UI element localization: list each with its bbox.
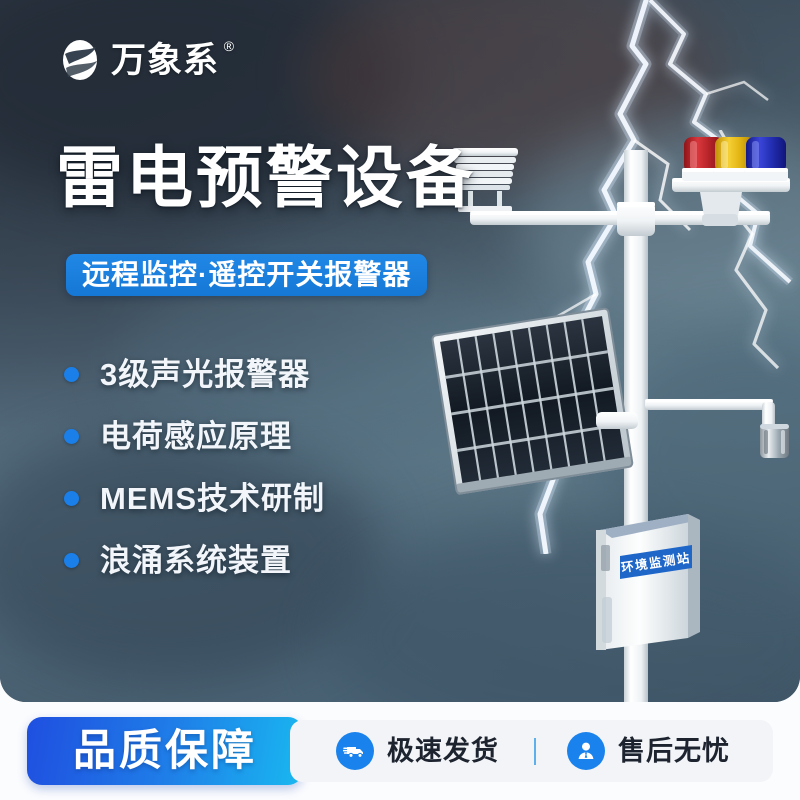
service-label: 售后无忧 bbox=[618, 738, 730, 765]
customer-service-icon bbox=[567, 732, 605, 770]
subtitle-text: 远程监控·遥控开关报警器 bbox=[82, 261, 411, 289]
list-item: 浪涌系统装置 bbox=[64, 529, 325, 591]
divider bbox=[534, 738, 536, 765]
list-item: 电荷感应原理 bbox=[64, 405, 325, 467]
camera-arm-sensor bbox=[645, 399, 789, 458]
quality-guarantee-badge[interactable]: 品质保障 bbox=[27, 717, 303, 785]
list-item: MEMS技术研制 bbox=[64, 467, 325, 529]
page-title: 雷电预警设备 bbox=[56, 143, 476, 215]
service-item-fast-shipping[interactable]: 极速发货 bbox=[336, 732, 499, 770]
subtitle-banner: 远程监控·遥控开关报警器 bbox=[66, 254, 427, 296]
panel-bracket bbox=[596, 412, 638, 429]
feature-list: 3级声光报警器 电荷感应原理 MEMS技术研制 浪涌系统装置 bbox=[64, 343, 325, 591]
blue-dot-icon bbox=[64, 367, 79, 382]
bottom-service-bar: 品质保障 极速发货 bbox=[0, 702, 800, 800]
product-poster: 万象系 ® bbox=[0, 0, 800, 800]
list-item: 3级声光报警器 bbox=[64, 343, 325, 405]
service-item-after-sales[interactable]: 售后无忧 bbox=[567, 732, 730, 770]
delivery-truck-icon bbox=[336, 732, 374, 770]
solar-panel bbox=[432, 308, 633, 495]
feature-label: MEMS技术研制 bbox=[100, 483, 325, 514]
blue-dot-icon bbox=[64, 491, 79, 506]
feature-label: 浪涌系统装置 bbox=[100, 545, 292, 576]
controller-box: 环境监测站 bbox=[596, 514, 700, 650]
hero-photo: 万象系 ® bbox=[0, 0, 800, 702]
service-pill: 极速发货 售后无忧 bbox=[290, 720, 773, 782]
service-label: 极速发货 bbox=[387, 738, 499, 765]
quality-badge-label: 品质保障 bbox=[73, 730, 257, 773]
blue-alarm-light bbox=[744, 137, 788, 181]
blue-dot-icon bbox=[64, 429, 79, 444]
feature-label: 电荷感应原理 bbox=[100, 421, 292, 452]
blue-dot-icon bbox=[64, 553, 79, 568]
feature-label: 3级声光报警器 bbox=[100, 359, 310, 390]
